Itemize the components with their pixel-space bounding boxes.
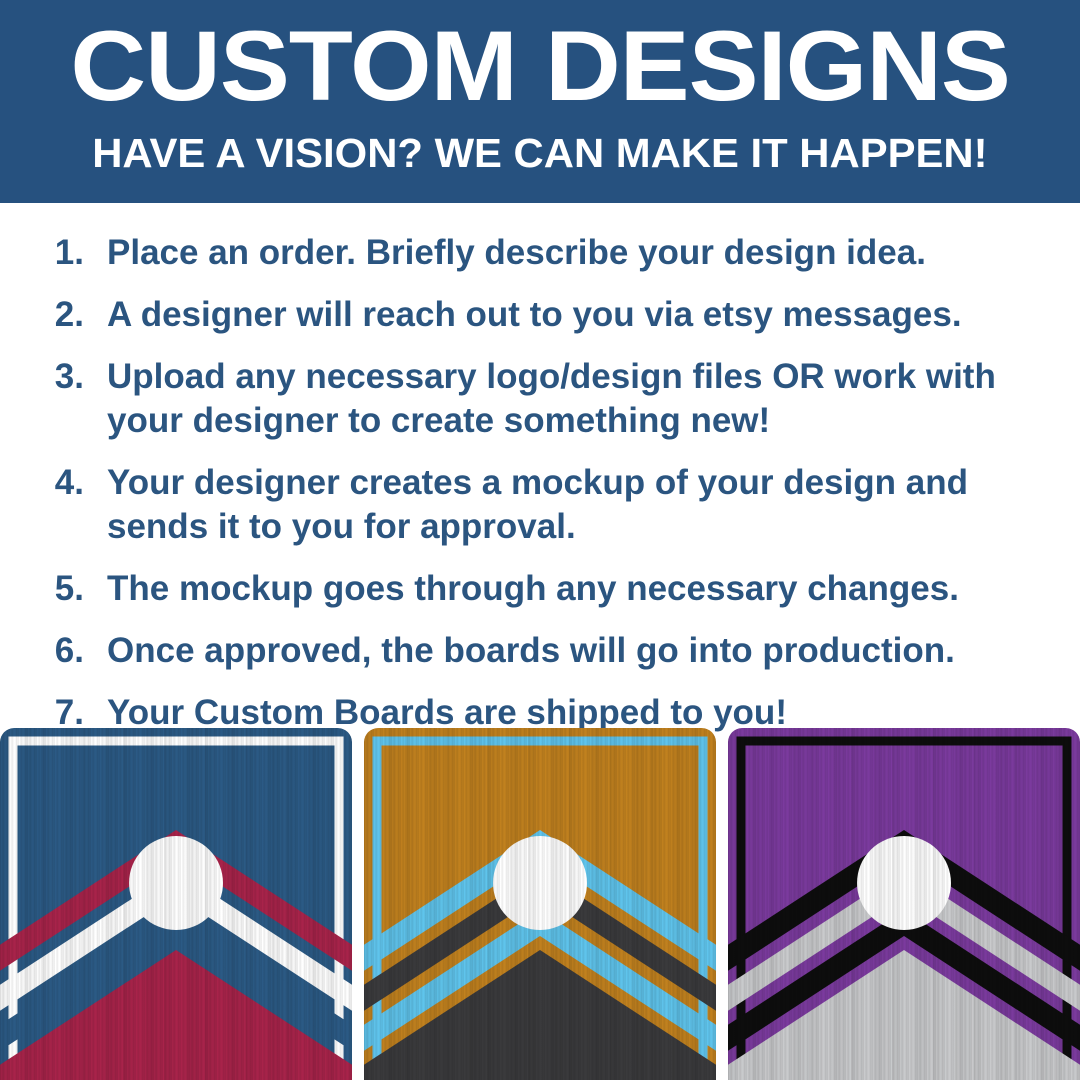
board-artwork <box>364 728 716 1080</box>
step-text: A designer will reach out to you via ets… <box>88 293 962 337</box>
step-number: 6. <box>40 629 88 673</box>
board-1[interactable] <box>0 718 352 1080</box>
step-text: Once approved, the boards will go into p… <box>88 629 955 673</box>
step-number: 5. <box>40 567 88 611</box>
page-subtitle: HAVE A VISION? WE CAN MAKE IT HAPPEN! <box>92 133 987 174</box>
step-number: 2. <box>40 293 88 337</box>
board-face <box>0 728 352 1080</box>
list-item: 5.The mockup goes through any necessary … <box>40 567 1040 611</box>
board-gallery <box>0 718 1080 1080</box>
board-2[interactable] <box>364 718 716 1080</box>
board-face <box>728 728 1080 1080</box>
list-item: 2.A designer will reach out to you via e… <box>40 293 1040 337</box>
step-text: The mockup goes through any necessary ch… <box>88 567 959 611</box>
page-title: CUSTOM DESIGNS <box>70 16 1009 115</box>
board-artwork <box>728 728 1080 1080</box>
board-3[interactable] <box>728 718 1080 1080</box>
step-text: Your designer creates a mockup of your d… <box>88 461 1028 549</box>
list-item: 6.Once approved, the boards will go into… <box>40 629 1040 673</box>
step-number: 4. <box>40 461 88 505</box>
step-text: Place an order. Briefly describe your de… <box>88 231 926 275</box>
list-item: 1.Place an order. Briefly describe your … <box>40 231 1040 275</box>
list-item: 3.Upload any necessary logo/design files… <box>40 355 1040 443</box>
step-number: 1. <box>40 231 88 275</box>
board-artwork <box>0 728 352 1080</box>
step-text: Upload any necessary logo/design files O… <box>88 355 1028 443</box>
steps-list: 1.Place an order. Briefly describe your … <box>0 203 1080 718</box>
step-number: 3. <box>40 355 88 399</box>
header-banner: CUSTOM DESIGNS HAVE A VISION? WE CAN MAK… <box>0 0 1080 203</box>
list-item: 4.Your designer creates a mockup of your… <box>40 461 1040 549</box>
board-face <box>364 728 716 1080</box>
